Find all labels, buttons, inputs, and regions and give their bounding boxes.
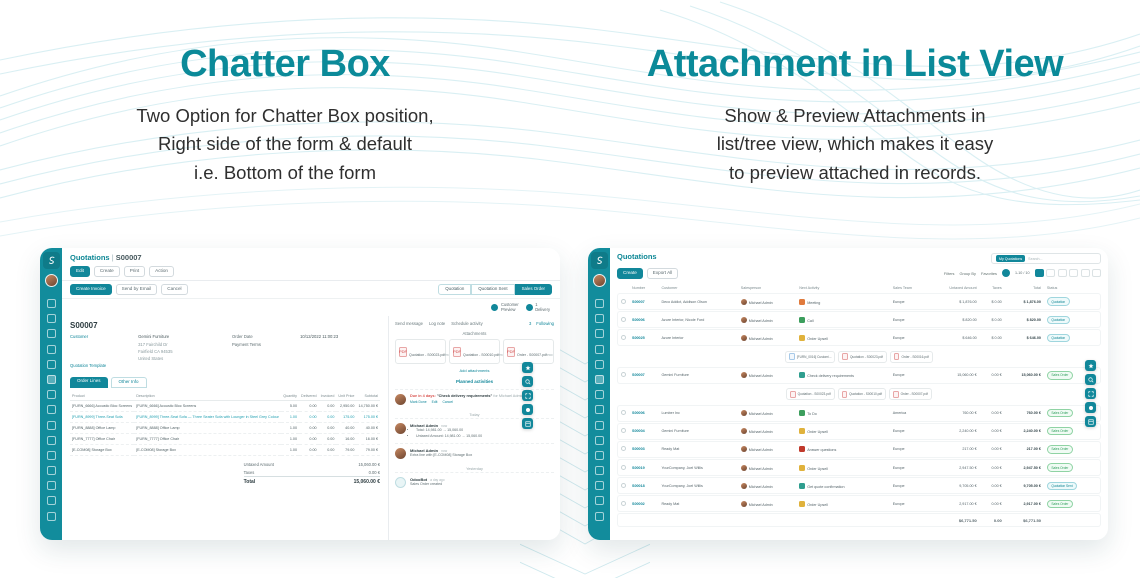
message-item: Michael AdminnowExtra line with [E-COM08… (395, 443, 554, 463)
avatar (741, 335, 747, 341)
cell-next-activity: Answer questions (796, 441, 889, 458)
cell-salesperson: Michael Admin (738, 495, 796, 512)
avatar (395, 394, 406, 405)
avatar (741, 483, 747, 489)
sidebar-item-settings[interactable] (595, 512, 604, 521)
odoo-logo-icon[interactable] (43, 252, 60, 269)
sidebar-item-purchase[interactable] (595, 405, 604, 414)
line-unit-price: 16.00 (336, 434, 356, 445)
table-row[interactable]: [E-COM08] Storage Box[E-COM08] Storage B… (70, 445, 380, 456)
call-icon (799, 317, 805, 323)
checklist-icon (799, 372, 805, 378)
following-button[interactable]: Following (536, 321, 554, 326)
cell-taxes: 0.00 € (980, 477, 1005, 494)
message-item: OdooBota day agoSales Order created (395, 472, 554, 492)
total-label: Taxes (244, 470, 255, 475)
row-number[interactable]: S00003 (632, 447, 645, 451)
table-row[interactable]: S00007Deco Addict, Addison OlsonMichael … (617, 293, 1101, 310)
cell-customer: YourCompany, Joel Willis (658, 477, 737, 494)
quotations-list-body: S00007Deco Addict, Addison OlsonMichael … (617, 293, 1101, 513)
row-number[interactable]: S00002 (632, 502, 645, 506)
attachment-card[interactable]: PDFQuotation - S00023.pdfPDF (395, 339, 446, 364)
sidebar-item-sales[interactable] (47, 375, 56, 384)
upsell-icon (799, 428, 805, 434)
line-product: [FURN_6666] Acoustic Bloc Screens (70, 401, 134, 412)
row-number[interactable]: S00006 (632, 411, 645, 415)
table-header-row: Product Description Quantity Delivered I… (70, 392, 380, 401)
smart-button-sublabel: Delivery (535, 307, 550, 312)
subtitle-line: Show & Preview Attachments in (570, 102, 1140, 131)
col-taxes[interactable]: Taxes (980, 284, 1005, 292)
col-delivered[interactable]: Delivered (299, 392, 319, 401)
user-avatar (395, 423, 406, 434)
cell-number: S00018 (629, 477, 658, 494)
cell-sales-team: Europe (890, 423, 929, 440)
pivot-view-icon[interactable] (1069, 269, 1078, 277)
field-label: Quotation Template (70, 363, 218, 369)
app-sidebar[interactable] (588, 248, 610, 540)
cell-sales-team: Europe (890, 441, 929, 458)
cell-customer: Lumber Inc (658, 405, 737, 422)
edit-activity-button[interactable]: Edit (432, 400, 438, 404)
row-checkbox[interactable] (621, 335, 626, 340)
form-view-screenshot: Quotations | S00007 Edit Create Print Ac… (40, 248, 560, 540)
field-column-left: Customer Gemini Furniture 317 Fairchild … (70, 334, 218, 370)
cell-sales-team: Europe (890, 495, 929, 512)
cell-untaxed-amount: 760.00 € (928, 405, 979, 422)
line-unit-price: 2,950.00 (336, 401, 356, 412)
row-checkbox[interactable] (621, 465, 626, 470)
col-status[interactable]: Status (1044, 284, 1101, 292)
smart-button-customer-preview[interactable]: Customer Preview (491, 302, 518, 312)
row-number[interactable]: S00004 (632, 429, 645, 433)
activity-due: Due in 4 days: (410, 394, 436, 398)
view-switcher (1035, 269, 1102, 277)
star-icon[interactable] (522, 362, 533, 373)
row-checkbox[interactable] (621, 428, 626, 433)
row-number[interactable]: S00007 (632, 300, 645, 304)
cell-total: 15,060.00 € (1005, 367, 1044, 384)
row-number[interactable]: S00006 (632, 318, 645, 322)
line-quantity: 1.00 (281, 423, 299, 434)
attachment-chip[interactable]: Order - S00016.pdf (890, 351, 933, 363)
sidebar-item-home[interactable] (595, 299, 604, 308)
status-pill-quotation-sent[interactable]: Quotation Sent (471, 284, 514, 295)
cell-total: 2,917.00 € (1005, 495, 1044, 512)
activity-view-icon[interactable] (1092, 269, 1101, 277)
layout-icon[interactable] (522, 418, 533, 429)
chatter-action-row: Send message Log note Schedule activity … (395, 321, 554, 326)
pdf-icon (790, 391, 796, 398)
export-all-button[interactable]: Export All (647, 268, 678, 279)
row-checkbox[interactable] (621, 483, 626, 488)
table-row[interactable]: S00006Lumber IncMichael AdminTo DoAmeric… (617, 405, 1101, 422)
status-badge: Sales Order (1047, 463, 1073, 471)
row-select-cell (617, 367, 629, 384)
breadcrumb: Quotations | S00007 (70, 253, 552, 262)
col-product[interactable]: Product (70, 392, 134, 401)
cell-number: S00003 (629, 441, 658, 458)
sidebar-item-website[interactable] (595, 496, 604, 505)
pdf-icon (893, 391, 899, 398)
create-button[interactable]: Create (617, 268, 643, 279)
row-select-cell (617, 293, 629, 310)
table-row[interactable]: [FURN_8888] Office Lamp[FURN_8888] Offic… (70, 423, 380, 434)
cell-customer: YourCompany, Joel Willis (658, 459, 737, 476)
cell-number: S00006 (629, 405, 658, 422)
table-row[interactable]: S00004Gemini FurnitureMichael AdminOrder… (617, 423, 1101, 440)
table-row[interactable]: [FURN_8999] Three-Seat Sofa[FURN_8999] T… (70, 412, 380, 423)
cell-salesperson: Michael Admin (738, 441, 796, 458)
attachment-preview-row: [FURN_0016] Customi...Quotation - S00023… (617, 347, 1101, 365)
attachment-chip[interactable]: Quotation - S00023.pdf (838, 351, 886, 363)
field-value[interactable]: 10/12/2022 11:00:23 (300, 334, 338, 340)
cell-total: 760.00 € (1005, 405, 1044, 422)
col-sales-team[interactable]: Sales Team (890, 284, 929, 292)
row-checkbox[interactable] (621, 299, 626, 304)
sidebar-item-calendar[interactable] (47, 329, 56, 338)
search-input[interactable]: My Quotations Search... (991, 253, 1101, 265)
pdf-icon (842, 391, 848, 398)
cell-number: S00006 (629, 311, 658, 328)
send-by-email-button[interactable]: Send by Email (116, 284, 158, 295)
heading-subtitle-chatter: Two Option for Chatter Box position, Rig… (0, 102, 570, 188)
sidebar-item-invoicing[interactable] (47, 451, 56, 460)
line-subtotal: 79.00 € (356, 445, 380, 456)
row-checkbox[interactable] (621, 446, 626, 451)
row-select-cell (617, 441, 629, 458)
line-unit-price: 79.00 (336, 445, 356, 456)
field-label: Customer (70, 334, 138, 340)
line-delivered: 0.00 (299, 445, 319, 456)
total-value: 15,060.00 € (354, 479, 380, 485)
sidebar-item-website[interactable] (47, 496, 56, 505)
list-view-icon[interactable] (1035, 269, 1044, 277)
row-number[interactable]: S00007 (632, 373, 645, 377)
attachment-type: PDF (547, 353, 553, 357)
create-invoice-button[interactable]: Create Invoice (70, 284, 112, 295)
table-row[interactable]: [FURN_7777] Office Chair[FURN_7777] Offi… (70, 434, 380, 445)
cell-customer: Ready Mat (658, 441, 737, 458)
sidebar-item-inventory[interactable] (595, 390, 604, 399)
status-badge: Quotation (1047, 334, 1070, 342)
breadcrumb-record: S00007 (116, 253, 142, 262)
subtitle-line: i.e. Bottom of the form (0, 159, 570, 188)
status-pill-sales-order[interactable]: Sales Order (515, 284, 552, 295)
calendar-view-icon[interactable] (1058, 269, 1067, 277)
attachment-name: Quotation - S00010.pdf (849, 392, 882, 396)
line-product: [FURN_7777] Office Chair (70, 434, 134, 445)
app-sidebar[interactable] (40, 248, 62, 540)
line-description: [FURN_8999] Three-Seat Sofa — Three Seat… (134, 412, 281, 423)
cell-status: Quotation (1044, 311, 1101, 328)
sidebar-item-contacts[interactable] (595, 345, 604, 354)
smart-button-delivery[interactable]: 1 Delivery (526, 302, 550, 312)
sidebar-item-discuss[interactable] (47, 314, 56, 323)
create-button[interactable]: Create (94, 266, 120, 277)
mark-done-button[interactable]: Mark Done (410, 400, 427, 404)
line-delivered: 0.00 (299, 401, 319, 412)
cell-number: S00002 (629, 495, 658, 512)
fullscreen-icon[interactable] (522, 390, 533, 401)
field-quotation-template: Quotation Template (70, 363, 218, 369)
follower-count[interactable]: 3 (529, 321, 531, 326)
pdf-icon: PDF (507, 347, 515, 357)
page-title-chatter: Chatter Box (0, 44, 570, 86)
status-badge: Sales Order (1047, 427, 1073, 435)
search-icon[interactable] (1085, 374, 1096, 385)
line-quantity: 1.00 (281, 445, 299, 456)
attachment-card[interactable]: PDFOrder - S00007.pdfPDF (503, 339, 554, 364)
attachment-chip[interactable]: Quotation - S00023.pdf (786, 388, 834, 400)
status-badge: Quotation (1047, 297, 1070, 305)
cancel-button[interactable]: Cancel (161, 284, 187, 295)
total-taxes: Taxes 0.00 € (244, 468, 380, 476)
field-value[interactable]: Gemini Furniture (138, 334, 169, 340)
table-row[interactable]: S00018YourCompany, Joel WillisMichael Ad… (617, 477, 1101, 494)
edit-button[interactable]: Edit (70, 266, 90, 277)
cell-untaxed-amount: 2,240.00 € (928, 423, 979, 440)
cell-number: S00019 (629, 459, 658, 476)
tab-other-info[interactable]: Other Info (111, 377, 147, 389)
cell-untaxed-amount: 15,060.00 € (928, 367, 979, 384)
field-address-line-1: 317 Fairchild Dr (70, 342, 218, 348)
theme-icon[interactable] (522, 404, 533, 415)
line-quantity: 1.00 (281, 412, 299, 423)
col-invoiced[interactable]: Invoiced (319, 392, 337, 401)
table-row[interactable]: S00019YourCompany, Joel WillisMichael Ad… (617, 459, 1101, 476)
sidebar-item-contacts[interactable] (47, 345, 56, 354)
table-row[interactable]: S00007Gemini FurnitureMichael AdminCheck… (617, 367, 1101, 384)
layout-icon[interactable] (1085, 416, 1096, 427)
row-select-cell (617, 495, 629, 512)
search-facet-my-quotations[interactable]: My Quotations (996, 255, 1025, 262)
sidebar-item-home[interactable] (47, 299, 56, 308)
cell-status: Sales Order (1044, 495, 1101, 512)
sidebar-item-inventory[interactable] (47, 390, 56, 399)
cell-total: $ 1,876.00 (1005, 293, 1044, 310)
cell-number: S00004 (629, 423, 658, 440)
smart-button-sublabel: Preview (501, 307, 519, 312)
status-bar: Quotation Quotation Sent Sales Order (438, 284, 552, 295)
cell-taxes: 0.00 € (980, 441, 1005, 458)
line-invoiced: 0.00 (319, 423, 337, 434)
message-bullet: Untaxed Amount: 14,981.00 → 15,060.00 (416, 434, 482, 439)
row-number[interactable]: S00018 (632, 484, 645, 488)
attachment-name: [FURN_0016] Customi... (797, 355, 832, 359)
cell-taxes: $ 0.00 (980, 311, 1005, 328)
attachment-chip[interactable]: Order - S00007.pdf (889, 388, 932, 400)
group-by-dropdown[interactable]: Group By (960, 271, 976, 276)
col-untaxed-amount[interactable]: Untaxed Amount (928, 284, 979, 292)
cell-total: 2,947.50 € (1005, 459, 1044, 476)
status-badge: Sales Order (1047, 445, 1073, 453)
avatar[interactable] (593, 274, 606, 287)
row-checkbox[interactable] (621, 501, 626, 506)
col-quantity[interactable]: Quantity (281, 392, 299, 401)
table-row[interactable]: S00003Ready MatMichael AdminAnswer quest… (617, 441, 1101, 458)
cell-next-activity: Get quote confirmation (796, 477, 889, 494)
col-select[interactable] (617, 284, 629, 292)
row-number[interactable]: S00019 (632, 466, 645, 470)
sidebar-item-recruitment[interactable] (47, 481, 56, 490)
order-lines-body: [FURN_6666] Acoustic Bloc Screens[FURN_6… (70, 401, 380, 456)
status-badge: Quotation Sent (1047, 482, 1077, 490)
record-title: S00007 (70, 321, 380, 330)
list-buttons: Create Export All (617, 268, 678, 279)
cell-sales-team: Europe (890, 329, 929, 346)
subtitle-line: Right side of the form & default (0, 130, 570, 159)
row-checkbox[interactable] (621, 317, 626, 322)
search-icon[interactable] (522, 376, 533, 387)
attachment-name: Quotation - S00010.pdf (463, 353, 499, 357)
pager[interactable]: 1-10 / 10 (1015, 271, 1030, 275)
cell-salesperson: Michael Admin (738, 405, 796, 422)
message-body: Extra line with [E-COM08] Storage Box (410, 453, 472, 458)
cell-taxes: 0.00 € (980, 459, 1005, 476)
star-icon[interactable] (1085, 360, 1096, 371)
schedule-activity-button[interactable]: Schedule activity (451, 321, 482, 326)
line-invoiced: 0.00 (319, 412, 337, 423)
list-float-toolbar (1085, 360, 1096, 427)
table-row[interactable]: S00006Azure Interior, Nicole FordMichael… (617, 311, 1101, 328)
col-customer[interactable]: Customer (658, 284, 737, 292)
tab-order-lines[interactable]: Order Lines (70, 377, 108, 389)
send-message-button[interactable]: Send message (395, 321, 423, 326)
cell-total: 2,240.00 € (1005, 423, 1044, 440)
cell-taxes: $ 0.00 (980, 293, 1005, 310)
total-label: Untaxed Amount (244, 462, 274, 467)
page-title-attachment: Attachment in List View (570, 44, 1140, 86)
filters-dropdown[interactable]: Filters (944, 271, 955, 276)
sidebar-item-manufacturing[interactable] (47, 421, 56, 430)
status-badge: Sales Order (1047, 371, 1073, 379)
list-view-screenshot: Quotations My Quotations Search... Creat… (588, 248, 1108, 540)
cell-salesperson: Michael Admin (738, 293, 796, 310)
breadcrumb-separator: | (112, 253, 114, 262)
sidebar-item-sales[interactable] (595, 375, 604, 384)
graph-view-icon[interactable] (1081, 269, 1090, 277)
sidebar-item-crm[interactable] (595, 360, 604, 369)
sidebar-item-employees[interactable] (47, 466, 56, 475)
footer-total: $6,771.50 (1005, 513, 1044, 527)
cell-untaxed-amount: $ 1,876.00 (928, 293, 979, 310)
print-button[interactable]: Print (124, 266, 145, 277)
breadcrumb: Quotations (617, 252, 657, 261)
cell-salesperson: Michael Admin (738, 423, 796, 440)
avatar (741, 501, 747, 507)
odoo-logo-icon[interactable] (591, 252, 608, 269)
cancel-activity-button[interactable]: Cancel (442, 400, 453, 404)
smart-button-row: Customer Preview 1 Delivery (62, 299, 560, 316)
col-description[interactable]: Description (134, 392, 281, 401)
breadcrumb-app[interactable]: Quotations (70, 253, 110, 262)
cell-salesperson: Michael Admin (738, 367, 796, 384)
cell-total: $ 820.00 (1005, 311, 1044, 328)
cell-taxes: $ 0.00 (980, 329, 1005, 346)
form-app-body: Quotations | S00007 Edit Create Print Ac… (62, 248, 560, 540)
status-pill-quotation[interactable]: Quotation (438, 284, 471, 295)
col-next-activity[interactable]: Next Activity (796, 284, 889, 292)
col-number[interactable]: Number (629, 284, 658, 292)
attachment-name: Order - S00016.pdf (901, 355, 928, 359)
attachment-card[interactable]: PDFQuotation - S00010.pdfPDF (449, 339, 500, 364)
total-label: Total (244, 479, 256, 485)
col-subtotal[interactable]: Subtotal (356, 392, 380, 401)
avatar[interactable] (45, 274, 58, 287)
cell-untaxed-amount: 2,917.00 € (928, 495, 979, 512)
attachment-chip[interactable]: Quotation - S00010.pdf (838, 388, 886, 400)
sidebar-item-invoicing[interactable] (595, 451, 604, 460)
pdf-icon (894, 353, 900, 360)
totals-block: Untaxed Amount 15,060.00 € Taxes 0.00 € … (244, 460, 380, 486)
sidebar-item-accounting[interactable] (47, 436, 56, 445)
sidebar-item-discuss[interactable] (595, 314, 604, 323)
col-salesperson[interactable]: Salesperson (738, 284, 796, 292)
avatar (741, 446, 747, 452)
cell-total: $ 646.00 (1005, 329, 1044, 346)
sidebar-item-crm[interactable] (47, 360, 56, 369)
kanban-view-icon[interactable] (1046, 269, 1055, 277)
sheet-and-chatter: S00007 Customer Gemini Furniture 317 Fai… (62, 316, 560, 540)
action-button[interactable]: Action (149, 266, 174, 277)
table-row[interactable]: S00002Ready MatMichael AdminOrder Upsell… (617, 495, 1101, 512)
cell-sales-team: America (890, 405, 929, 422)
row-checkbox[interactable] (621, 410, 626, 415)
cell-taxes: 0.00 € (980, 405, 1005, 422)
table-row[interactable]: [FURN_6666] Acoustic Bloc Screens[FURN_6… (70, 401, 380, 412)
field-value: 317 Fairchild Dr (138, 342, 168, 348)
cell-customer: Azure Interior (658, 329, 737, 346)
log-note-button[interactable]: Log note (429, 321, 445, 326)
sidebar-item-accounting[interactable] (595, 436, 604, 445)
attachment-name: Quotation - S00023.pdf (798, 392, 831, 396)
row-checkbox[interactable] (621, 372, 626, 377)
cell-customer: Ready Mat (658, 495, 737, 512)
avatar (741, 299, 747, 305)
sidebar-item-calendar[interactable] (595, 329, 604, 338)
line-product: [FURN_8888] Office Lamp (70, 423, 134, 434)
sidebar-item-recruitment[interactable] (595, 481, 604, 490)
line-quantity: 1.00 (281, 434, 299, 445)
theme-icon[interactable] (1085, 402, 1096, 413)
upsell-icon (799, 501, 805, 507)
confirm-icon (799, 483, 805, 489)
row-select-cell (617, 405, 629, 422)
cell-next-activity: Order Upsell (796, 329, 889, 346)
field-grid: Customer Gemini Furniture 317 Fairchild … (70, 334, 380, 370)
attachment-name: Order - S00007.pdf (901, 392, 928, 396)
workflow-status-row: Create Invoice Send by Email Cancel Quot… (62, 281, 560, 299)
sidebar-item-manufacturing[interactable] (595, 421, 604, 430)
cell-sales-team: Europe (890, 311, 929, 328)
sidebar-item-employees[interactable] (595, 466, 604, 475)
field-label: Payment Terms (232, 342, 300, 348)
attachment-chip[interactable]: [FURN_0016] Customi... (785, 351, 835, 363)
table-row[interactable]: S00025Azure InteriorMichael AdminOrder U… (617, 329, 1101, 346)
row-number[interactable]: S00025 (632, 336, 645, 340)
favorites-dropdown[interactable]: Favorites (981, 271, 997, 276)
total-untaxed: Untaxed Amount 15,060.00 € (244, 460, 380, 468)
sidebar-item-purchase[interactable] (47, 405, 56, 414)
col-total[interactable]: Total (1005, 284, 1044, 292)
fullscreen-icon[interactable] (1085, 388, 1096, 399)
cell-sales-team: Europe (890, 477, 929, 494)
sidebar-item-settings[interactable] (47, 512, 56, 521)
col-unit-price[interactable]: Unit Price (336, 392, 356, 401)
line-subtotal: 40.00 € (356, 423, 380, 434)
form-sheet: S00007 Customer Gemini Furniture 317 Fai… (62, 316, 388, 540)
